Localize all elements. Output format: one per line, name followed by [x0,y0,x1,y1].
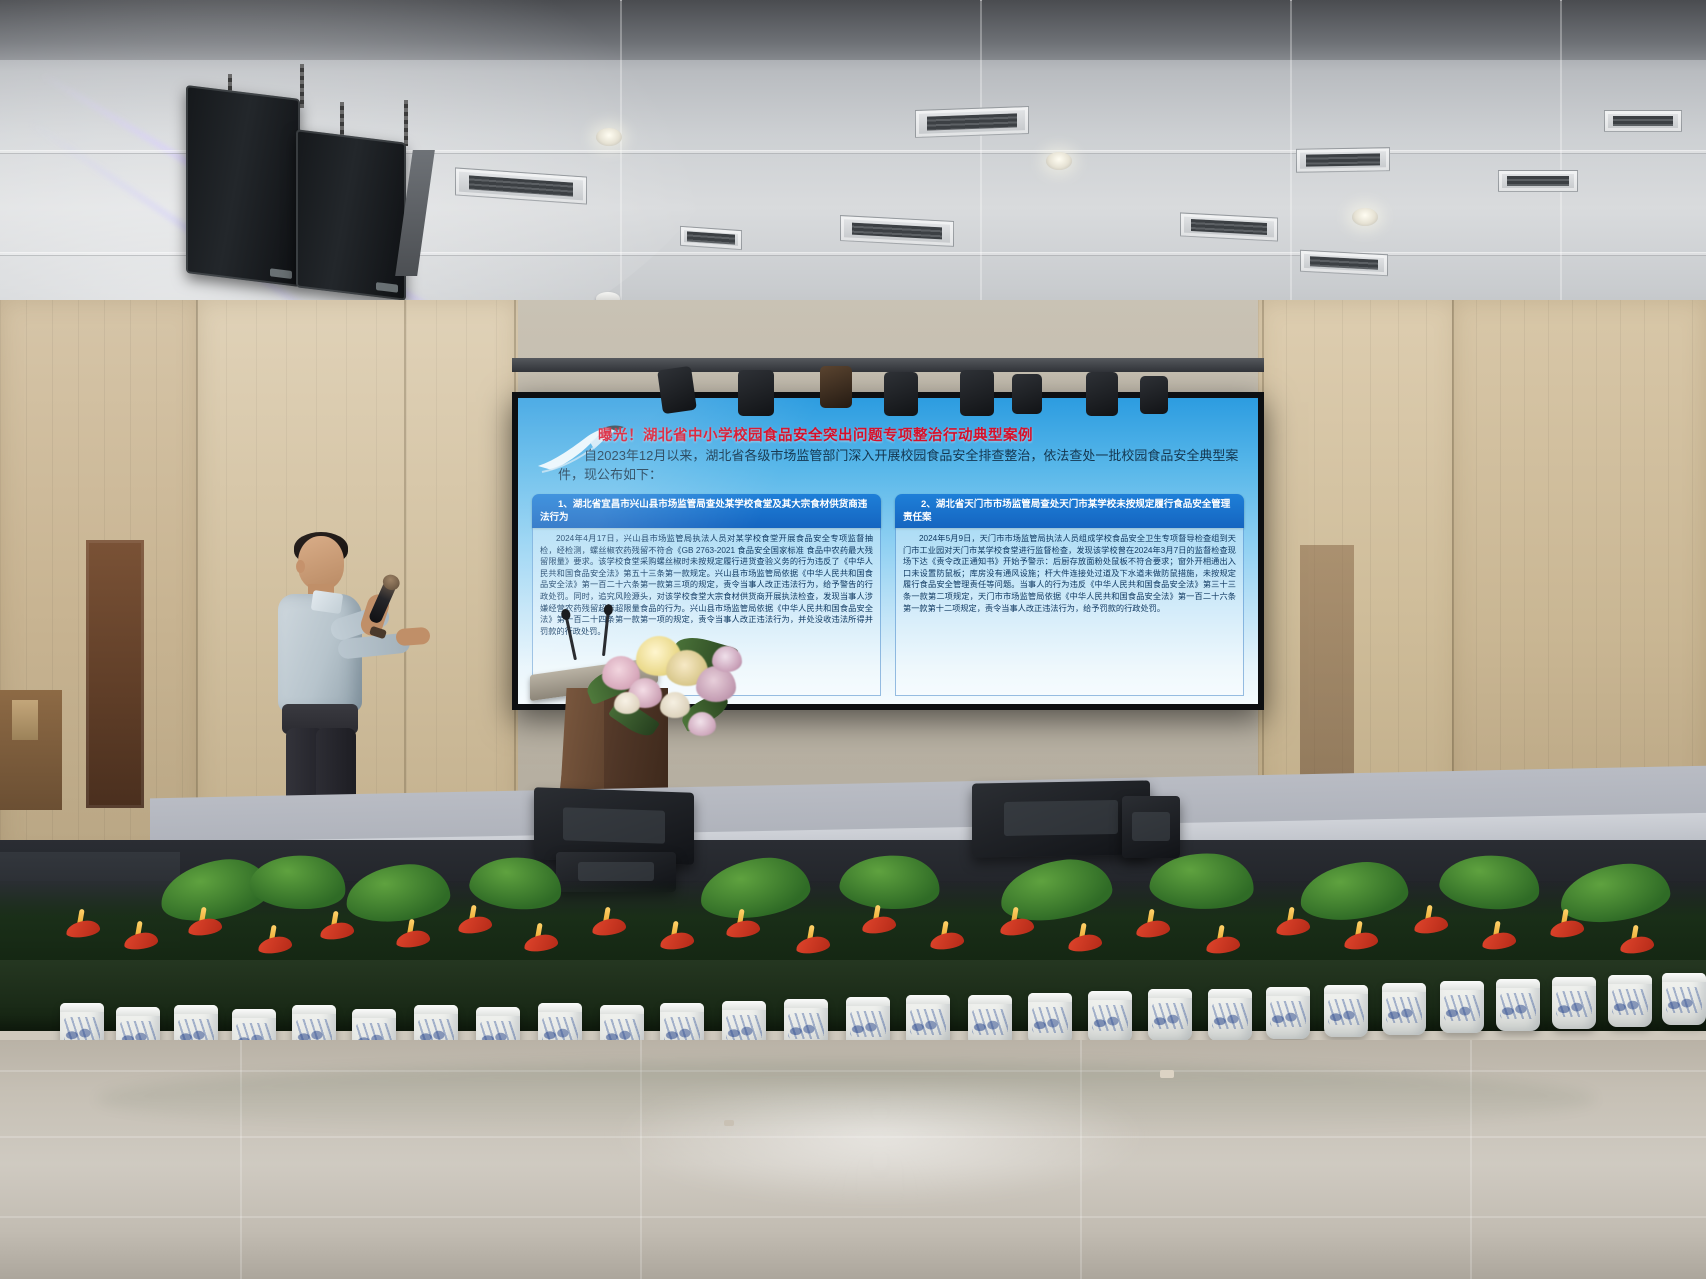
porcelain-pot [1440,981,1484,1033]
anthurium-flower [592,915,626,935]
anthurium-flower [1414,913,1448,933]
anthurium-flower [1620,933,1654,953]
anthurium-flower [124,929,158,949]
ceiling-downlight [1352,208,1378,226]
anthurium-flower [396,927,430,947]
lighting-truss [512,358,1264,372]
case-card-2-header: 2、湖北省天门市市场监管局查处天门市某学校未按规定履行食品安全管理责任案 [895,494,1244,528]
white-flower [614,692,640,714]
porcelain-pot [1148,989,1192,1041]
air-vent [1300,250,1388,277]
floor-debris [724,1120,734,1126]
stage-light [1086,372,1118,416]
stage-light [960,370,994,416]
flower-arrangement [584,626,744,756]
porcelain-pot [1088,991,1132,1043]
air-vent [1498,170,1578,192]
anthurium-flower [660,929,694,949]
stage-light [884,372,918,416]
anthurium-flower [796,933,830,953]
porcelain-pot [1662,973,1706,1025]
ceiling-downlight [596,128,622,146]
anthurium-flower [188,915,222,935]
person-forearm-pointing [395,627,430,646]
floor-tile-seam [1470,1040,1472,1279]
air-vent [1296,147,1390,173]
stage-light [1140,376,1168,414]
porcelain-pot [1496,979,1540,1031]
stage-light [738,370,774,416]
anthurium-flower [458,913,492,933]
case-card-1-header: 1、湖北省宜昌市兴山县市场监管局查处某学校食堂及其大宗食材供货商违法行为 [532,494,881,528]
pink-flower [712,646,742,672]
stage-light [820,366,852,408]
air-vent [680,226,742,250]
floor-reflection-plants [96,1062,1596,1136]
person-collar [311,590,343,614]
anthurium-flower [1206,933,1240,953]
speaker-chain [404,100,408,146]
ceiling-downlight [1046,152,1072,170]
porcelain-pot [1028,993,1072,1045]
air-vent [1180,212,1278,241]
slide-title: 曝光！湖北省中小学校园食品安全突出问题专项整治行动典型案例 [598,424,1250,445]
anthurium-flower [726,917,760,937]
anthurium-flower [930,929,964,949]
floor-debris [1160,1070,1174,1078]
pink-flower [688,712,716,736]
anthurium-flower [1068,931,1102,951]
side-door-right[interactable] [1300,545,1354,775]
porcelain-pot [1208,989,1252,1041]
air-vent [915,106,1029,138]
hanging-loudspeaker [186,85,300,287]
anthurium-flower [524,931,558,951]
anthurium-flower [258,933,292,953]
anthurium-flower [1550,917,1584,937]
porcelain-pot [1324,985,1368,1037]
case-card-2-body: 2024年5月9日，天门市市场监管局执法人员组成学校食品安全卫生专项督导检查组到… [895,528,1244,696]
anthurium-flower [1276,915,1310,935]
porcelain-pot [1608,975,1652,1027]
wall-seam [196,300,198,860]
side-door[interactable] [86,540,144,808]
stage-light [1012,374,1042,414]
floor-tile-seam [240,1040,242,1279]
anthurium-flower [1000,915,1034,935]
speaker-chain [300,64,304,108]
porcelain-pot [1266,987,1310,1039]
floor-tile-seam [0,1216,1706,1218]
anthurium-flower [1344,929,1378,949]
anthurium-flower [320,919,354,939]
anthurium-flower [66,917,100,937]
white-flower [660,692,690,718]
air-vent [1604,110,1682,132]
hanging-loudspeaker [296,129,406,301]
air-vent [840,215,954,247]
wall-plaque [12,700,38,740]
person-head [298,536,344,590]
conference-hall-photo: 曝光！湖北省中小学校园食品安全突出问题专项整治行动典型案例 自2023年12月以… [0,0,1706,1279]
stage-light [657,366,697,414]
anthurium-flower [1482,929,1516,949]
porcelain-pot [1552,977,1596,1029]
person-ear [296,560,305,573]
slide-intro-paragraph: 自2023年12月以来，湖北省各级市场监管部门深入开展校园食品安全排查整治，依法… [558,446,1244,484]
anthurium-flower [862,913,896,933]
stage-monitor-speaker [1122,796,1180,858]
anthurium-flower [1136,917,1170,937]
porcelain-pot [1382,983,1426,1035]
case-card-2: 2、湖北省天门市市场监管局查处天门市某学校未按规定履行食品安全管理责任案 202… [895,494,1244,696]
